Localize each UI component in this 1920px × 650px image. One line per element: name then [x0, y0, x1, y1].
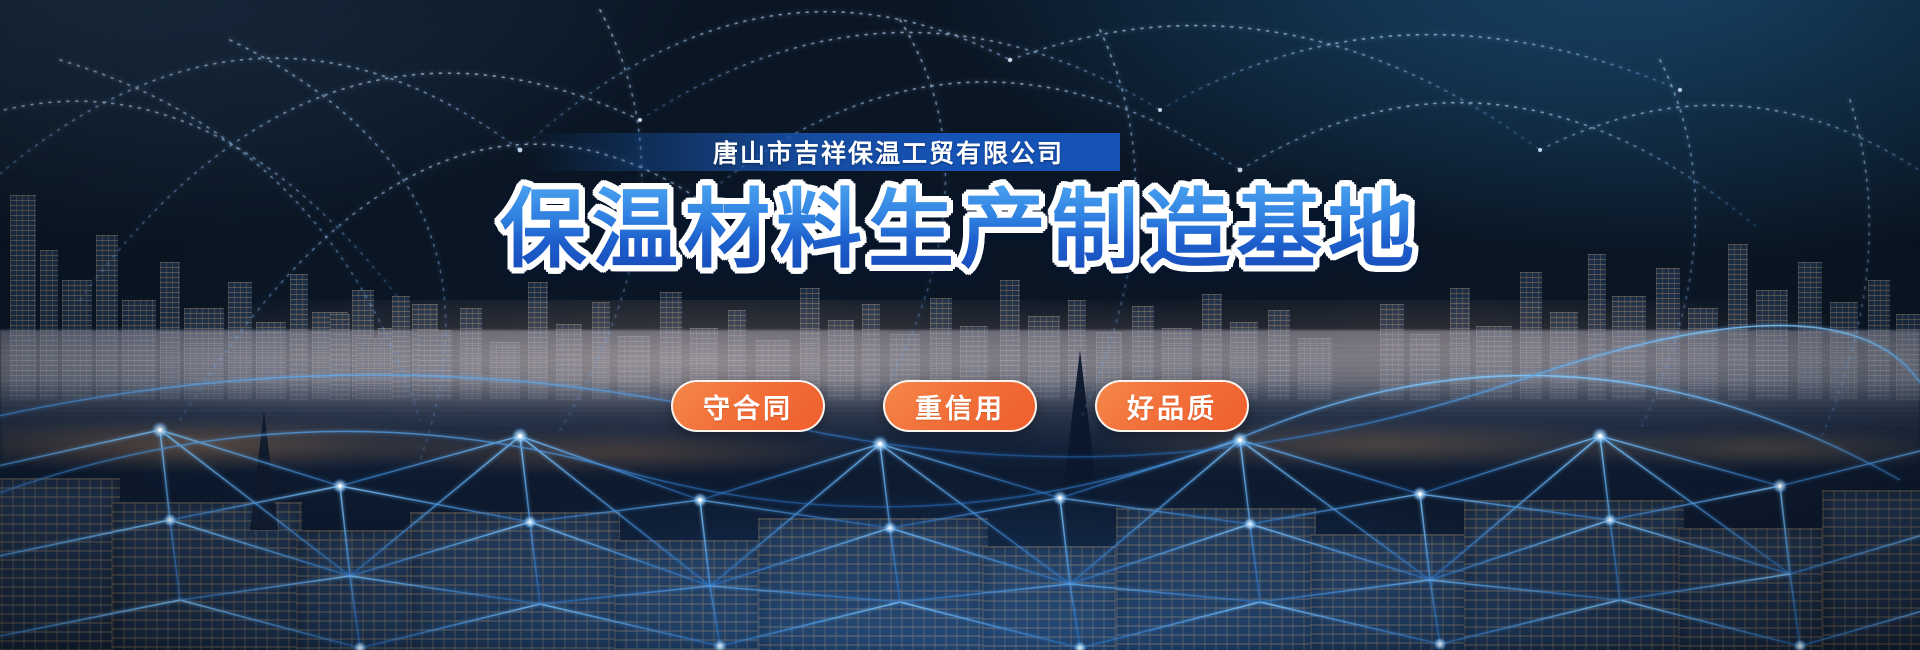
- company-name: 唐山市吉祥保温工贸有限公司: [713, 134, 1064, 170]
- feature-pill-credit-label: 重信用: [915, 387, 1005, 426]
- company-name-bar: 唐山市吉祥保温工贸有限公司: [530, 133, 1120, 171]
- feature-pill-row: 守合同 重信用 好品质: [0, 380, 1920, 432]
- page-title: 保温材料生产制造基地: [0, 182, 1920, 278]
- feature-pill-quality[interactable]: 好品质: [1095, 380, 1249, 432]
- feature-pill-credit[interactable]: 重信用: [883, 380, 1037, 432]
- feature-pill-contract[interactable]: 守合同: [671, 380, 825, 432]
- banner-content: 唐山市吉祥保温工贸有限公司 保温材料生产制造基地 守合同 重信用 好品质: [0, 0, 1920, 650]
- hero-banner: 唐山市吉祥保温工贸有限公司 保温材料生产制造基地 守合同 重信用 好品质: [0, 0, 1920, 650]
- feature-pill-contract-label: 守合同: [703, 387, 793, 426]
- feature-pill-quality-label: 好品质: [1127, 387, 1217, 426]
